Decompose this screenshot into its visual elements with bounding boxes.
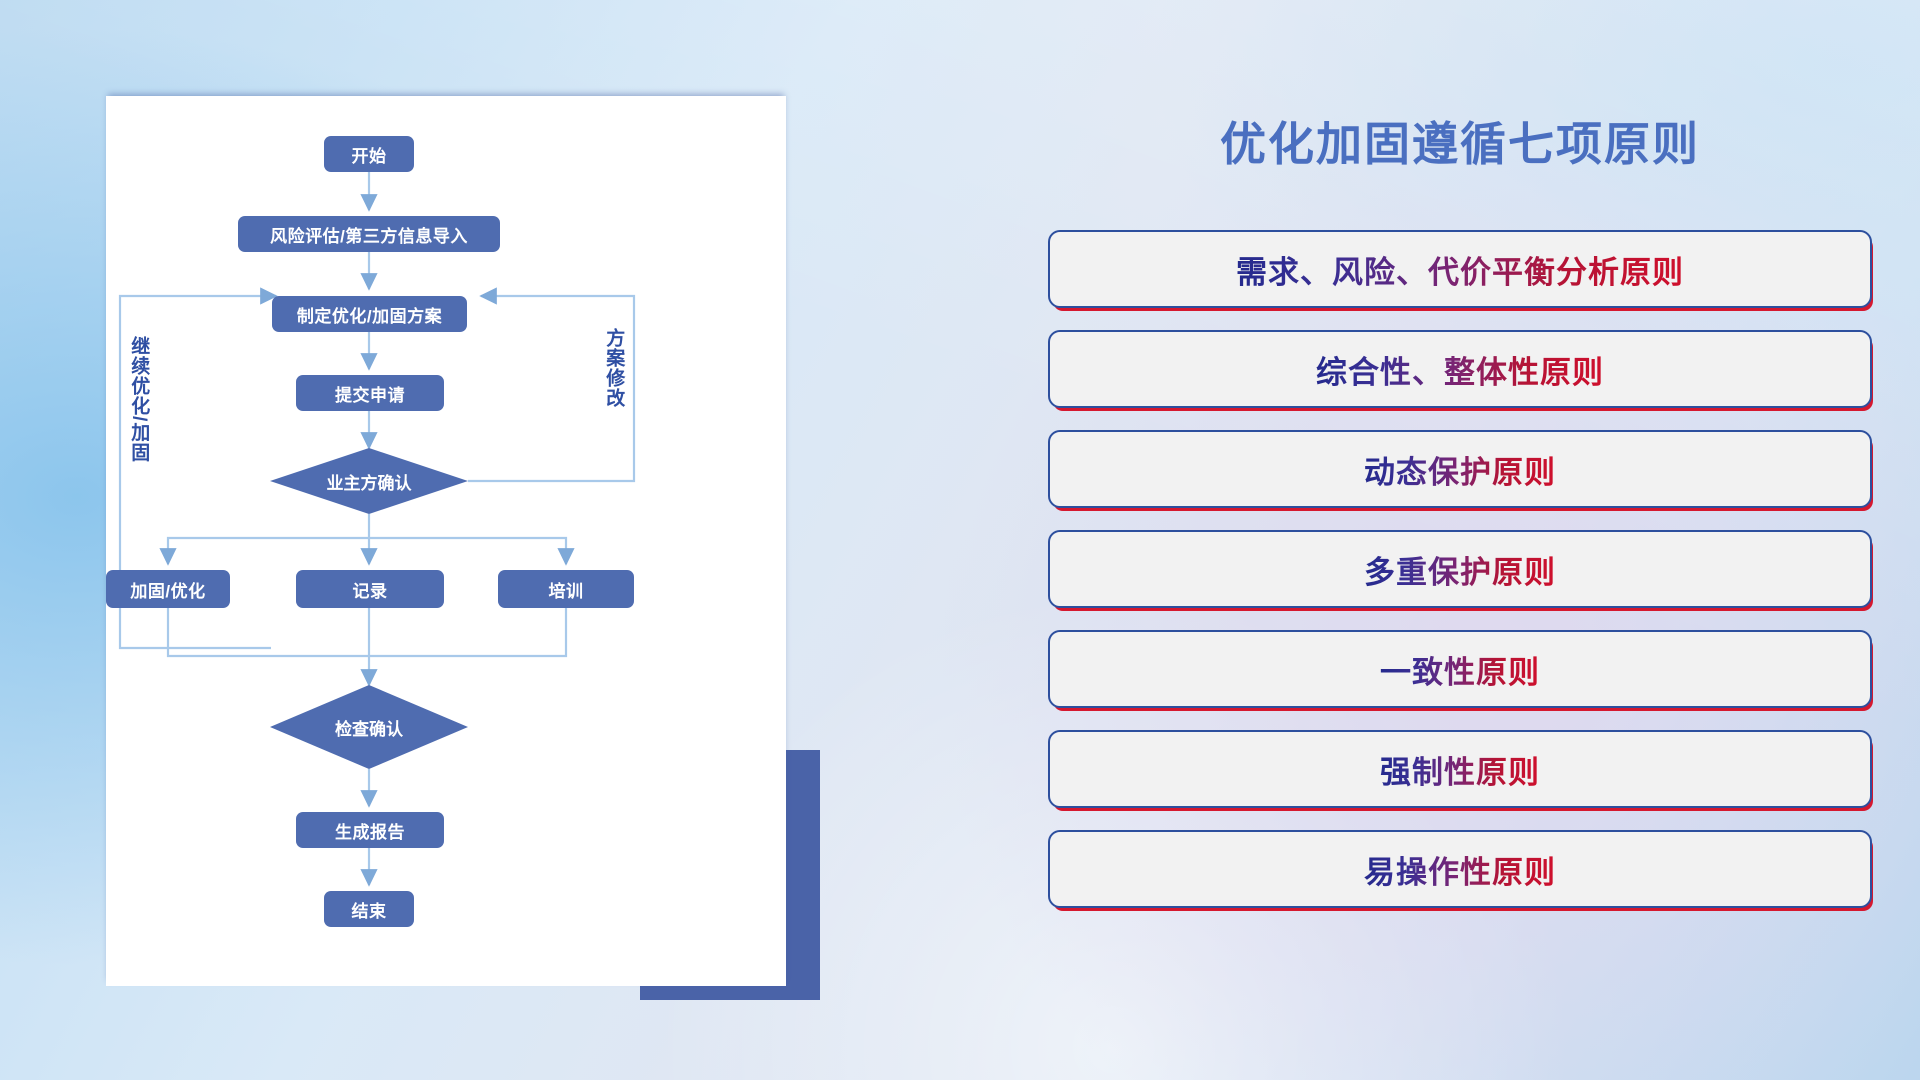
flowchart-panel: 开始 风险评估/第三方信息导入 制定优化/加固方案 提交申请 业主方确认 加固/… [106, 96, 786, 986]
flow-node-reinforce-optimize[interactable]: 加固/优化 [106, 570, 230, 608]
principle-card-label: 强制性原则 [1380, 747, 1540, 792]
principle-card-label: 易操作性原则 [1364, 847, 1556, 892]
principle-card[interactable]: 一致性原则 [1048, 630, 1872, 708]
principle-card[interactable]: 多重保护原则 [1048, 530, 1872, 608]
principle-card-label: 综合性、整体性原则 [1316, 347, 1604, 392]
principle-card-label: 动态保护原则 [1364, 447, 1556, 492]
flow-node-label: 结束 [352, 897, 387, 922]
flow-edge-label-right: 方案修改 [603, 328, 624, 408]
flow-node-submit-application[interactable]: 提交申请 [296, 375, 444, 411]
flow-node-owner-confirm[interactable]: 业主方确认 [270, 448, 468, 514]
principle-card-label: 一致性原则 [1380, 647, 1540, 692]
flow-node-label: 检查确认 [270, 685, 468, 769]
flow-node-end[interactable]: 结束 [324, 891, 414, 927]
principles-section: 优化加固遵循七项原则 需求、风险、代价平衡分析原则 综合性、整体性原则 动态保护… [1020, 0, 1900, 1080]
principle-card[interactable]: 易操作性原则 [1048, 830, 1872, 908]
flow-node-record[interactable]: 记录 [296, 570, 444, 608]
flowchart-diagram: 开始 风险评估/第三方信息导入 制定优化/加固方案 提交申请 业主方确认 加固/… [106, 96, 786, 986]
principles-card-list: 需求、风险、代价平衡分析原则 综合性、整体性原则 动态保护原则 多重保护原则 一… [1020, 230, 1900, 930]
principle-card[interactable]: 综合性、整体性原则 [1048, 330, 1872, 408]
principle-card[interactable]: 强制性原则 [1048, 730, 1872, 808]
flow-node-label: 制定优化/加固方案 [297, 302, 442, 327]
principles-title: 优化加固遵循七项原则 [1020, 108, 1900, 174]
flow-node-risk-assessment[interactable]: 风险评估/第三方信息导入 [238, 216, 500, 252]
flow-node-label: 开始 [352, 142, 387, 167]
flow-node-check-confirm[interactable]: 检查确认 [270, 685, 468, 769]
flow-node-label: 业主方确认 [270, 448, 468, 514]
flow-node-plan[interactable]: 制定优化/加固方案 [272, 296, 467, 332]
flow-node-label: 风险评估/第三方信息导入 [270, 222, 468, 247]
principle-card[interactable]: 动态保护原则 [1048, 430, 1872, 508]
principle-card[interactable]: 需求、风险、代价平衡分析原则 [1048, 230, 1872, 308]
flow-edge-label-left: 继续优化/加固 [128, 336, 149, 462]
principle-card-label: 需求、风险、代价平衡分析原则 [1236, 247, 1684, 292]
flow-node-label: 培训 [549, 577, 584, 602]
flow-node-generate-report[interactable]: 生成报告 [296, 812, 444, 848]
flow-node-start[interactable]: 开始 [324, 136, 414, 172]
flow-node-label: 生成报告 [335, 818, 405, 843]
principle-card-label: 多重保护原则 [1364, 547, 1556, 592]
flow-node-label: 提交申请 [335, 381, 405, 406]
flow-node-label: 记录 [353, 577, 388, 602]
flow-node-label: 加固/优化 [130, 577, 205, 602]
flow-node-training[interactable]: 培训 [498, 570, 634, 608]
